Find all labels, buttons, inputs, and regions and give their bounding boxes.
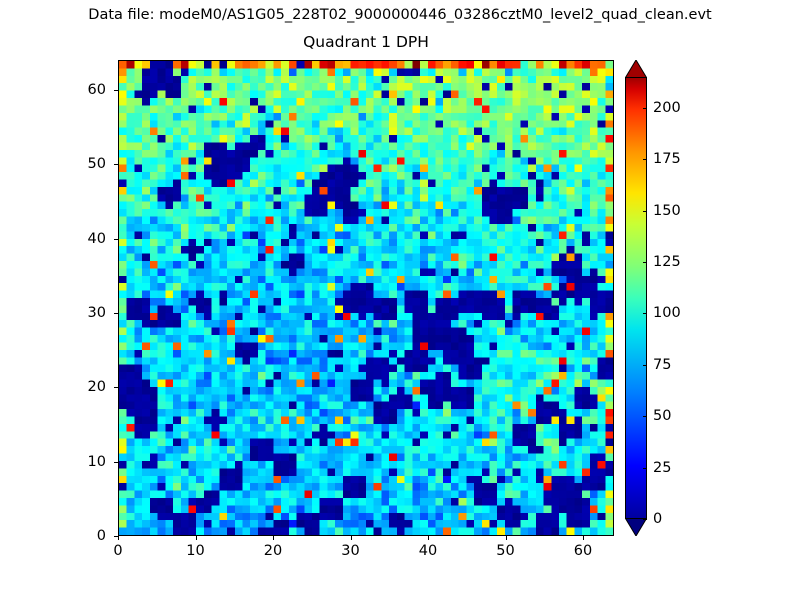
y-tick-label: 50 <box>46 156 106 172</box>
colorbar-scale <box>625 77 647 519</box>
colorbar-tick-mark <box>643 468 647 469</box>
y-tick-label: 10 <box>46 454 106 470</box>
x-tick-label: 50 <box>476 543 536 559</box>
colorbar-tick-mark <box>643 313 647 314</box>
x-tick-mark <box>196 536 197 540</box>
y-tick-label: 60 <box>46 82 106 98</box>
y-tick-mark <box>114 387 118 388</box>
detector-plane-histogram-image <box>119 61 613 535</box>
matplotlib-figure: Data file: modeM0/AS1G05_228T02_90000004… <box>0 0 800 600</box>
x-tick-label: 20 <box>243 543 303 559</box>
colorbar-tick-mark <box>643 108 647 109</box>
colorbar-tick-label: 125 <box>653 254 681 270</box>
colorbar <box>625 60 647 536</box>
x-tick-mark <box>273 536 274 540</box>
colorbar-tick-label: 150 <box>653 203 681 219</box>
data-file-suptitle: Data file: modeM0/AS1G05_228T02_90000004… <box>0 7 800 24</box>
y-tick-label: 20 <box>46 379 106 395</box>
x-tick-label: 40 <box>398 543 458 559</box>
x-tick-label: 30 <box>321 543 381 559</box>
y-tick-mark <box>114 239 118 240</box>
colorbar-tick-label: 200 <box>653 100 681 116</box>
x-tick-mark <box>583 536 584 540</box>
x-tick-mark <box>118 536 119 540</box>
y-tick-label: 40 <box>46 231 106 247</box>
x-tick-mark <box>428 536 429 540</box>
colorbar-tick-label: 175 <box>653 151 681 167</box>
colorbar-tick-mark <box>643 416 647 417</box>
colorbar-gradient <box>626 78 646 518</box>
x-tick-mark <box>351 536 352 540</box>
x-tick-mark <box>506 536 507 540</box>
colorbar-tick-mark <box>643 211 647 212</box>
x-tick-label: 0 <box>88 543 148 559</box>
heatmap-axes <box>118 60 614 536</box>
x-tick-label: 10 <box>166 543 226 559</box>
colorbar-tick-mark <box>643 262 647 263</box>
colorbar-extend-max-arrow <box>625 60 647 78</box>
y-tick-mark <box>114 462 118 463</box>
colorbar-tick-label: 100 <box>653 305 681 321</box>
x-tick-label: 60 <box>553 543 613 559</box>
y-tick-mark <box>114 164 118 165</box>
colorbar-tick-label: 0 <box>653 511 662 527</box>
colorbar-tick-label: 25 <box>653 460 671 476</box>
y-tick-mark <box>114 313 118 314</box>
colorbar-tick-label: 50 <box>653 408 671 424</box>
colorbar-tick-mark <box>643 519 647 520</box>
colorbar-tick-label: 75 <box>653 357 671 373</box>
colorbar-tick-mark <box>643 365 647 366</box>
colorbar-extend-min-arrow <box>625 518 647 536</box>
y-tick-mark <box>114 90 118 91</box>
y-tick-label: 0 <box>46 528 106 544</box>
page-title: Quadrant 1 DPH <box>118 33 614 52</box>
colorbar-tick-mark <box>643 159 647 160</box>
y-tick-label: 30 <box>46 305 106 321</box>
y-tick-mark <box>114 536 118 537</box>
